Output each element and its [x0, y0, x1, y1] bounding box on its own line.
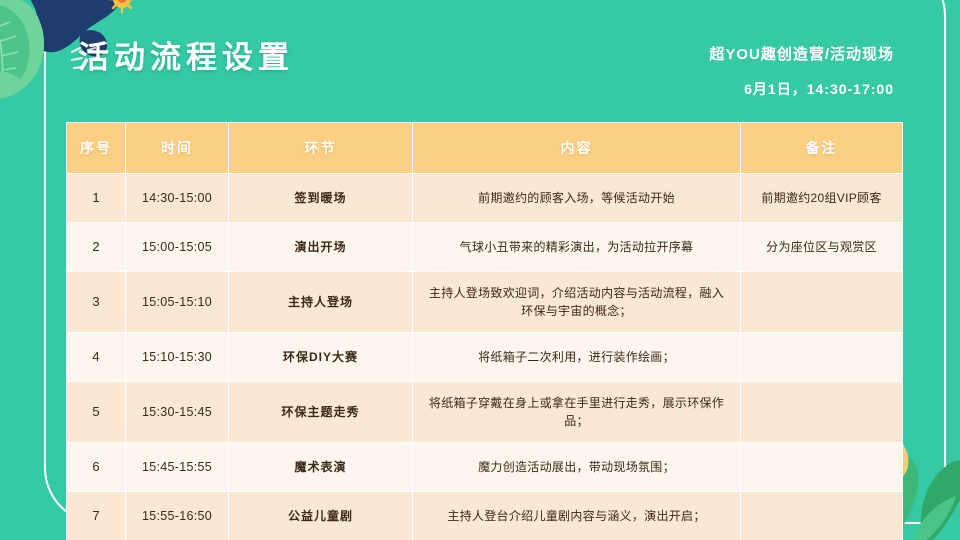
header-content: 内容 [413, 123, 741, 174]
cell-time: 15:30-15:45 [126, 382, 229, 443]
cell-content: 将纸箱子穿戴在身上或拿在手里进行走秀，展示环保作品； [413, 382, 741, 443]
cell-no: 2 [67, 223, 126, 272]
cell-time: 15:55-16:50 [126, 492, 229, 540]
table-header-row: 序号 时间 环节 内容 备注 [67, 123, 903, 174]
cell-time: 15:00-15:05 [126, 223, 229, 272]
header-time: 时间 [126, 123, 229, 174]
event-time: 6月1日，14:30-17:00 [709, 78, 894, 100]
cell-content: 魔力创造活动展出，带动现场氛围； [413, 443, 741, 492]
cell-content: 主持人登台介绍儿童剧内容与涵义，演出开启； [413, 492, 741, 540]
cell-note: 分为座位区与观赏区 [741, 223, 903, 272]
cell-segment: 演出开场 [229, 223, 413, 272]
cell-note [741, 443, 903, 492]
cell-content: 气球小丑带来的精彩演出，为活动拉开序幕 [413, 223, 741, 272]
cell-time: 15:10-15:30 [126, 333, 229, 382]
event-name: 超YOU趣创造营/活动现场 [709, 44, 894, 66]
header-note: 备注 [741, 123, 903, 174]
cell-no: 3 [67, 272, 126, 333]
table-row: 1 14:30-15:00 签到暖场 前期邀约的顾客入场，等候活动开始 前期邀约… [67, 174, 903, 223]
cell-note: 前期邀约20组VIP顾客 [741, 174, 903, 223]
cell-note [741, 382, 903, 443]
schedule-table: 序号 时间 环节 内容 备注 1 14:30-15:00 签到暖场 前期邀约的顾… [66, 122, 903, 540]
table-row: 3 15:05-15:10 主持人登场 主持人登场致欢迎词，介绍活动内容与活动流… [67, 272, 903, 333]
cell-segment: 公益儿童剧 [229, 492, 413, 540]
cell-no: 4 [67, 333, 126, 382]
schedule-table-body: 1 14:30-15:00 签到暖场 前期邀约的顾客入场，等候活动开始 前期邀约… [67, 174, 903, 540]
cell-no: 6 [67, 443, 126, 492]
schedule-table-container: 序号 时间 环节 内容 备注 1 14:30-15:00 签到暖场 前期邀约的顾… [66, 122, 902, 540]
cell-note [741, 333, 903, 382]
cell-segment: 魔术表演 [229, 443, 413, 492]
cell-note [741, 272, 903, 333]
slide-canvas: 活动流程设置 超YOU趣创造营/活动现场 6月1日，14:30-17:00 序号… [0, 0, 960, 540]
table-row: 7 15:55-16:50 公益儿童剧 主持人登台介绍儿童剧内容与涵义，演出开启… [67, 492, 903, 540]
cell-segment: 环保DIY大赛 [229, 333, 413, 382]
cell-content: 将纸箱子二次利用，进行装作绘画； [413, 333, 741, 382]
header-segment: 环节 [229, 123, 413, 174]
cell-time: 15:05-15:10 [126, 272, 229, 333]
table-row: 6 15:45-15:55 魔术表演 魔力创造活动展出，带动现场氛围； [67, 443, 903, 492]
cell-no: 7 [67, 492, 126, 540]
cell-segment: 主持人登场 [229, 272, 413, 333]
cell-no: 5 [67, 382, 126, 443]
table-row: 4 15:10-15:30 环保DIY大赛 将纸箱子二次利用，进行装作绘画； [67, 333, 903, 382]
page-title: 活动流程设置 [78, 32, 294, 77]
event-meta: 超YOU趣创造营/活动现场 6月1日，14:30-17:00 [709, 44, 894, 100]
cell-segment: 环保主题走秀 [229, 382, 413, 443]
cell-segment: 签到暖场 [229, 174, 413, 223]
header-no: 序号 [67, 123, 126, 174]
cell-no: 1 [67, 174, 126, 223]
cell-time: 14:30-15:00 [126, 174, 229, 223]
cell-note [741, 492, 903, 540]
cell-time: 15:45-15:55 [126, 443, 229, 492]
table-row: 5 15:30-15:45 环保主题走秀 将纸箱子穿戴在身上或拿在手里进行走秀，… [67, 382, 903, 443]
cell-content: 主持人登场致欢迎词，介绍活动内容与活动流程，融入环保与宇宙的概念； [413, 272, 741, 333]
table-row: 2 15:00-15:05 演出开场 气球小丑带来的精彩演出，为活动拉开序幕 分… [67, 223, 903, 272]
cell-content: 前期邀约的顾客入场，等候活动开始 [413, 174, 741, 223]
